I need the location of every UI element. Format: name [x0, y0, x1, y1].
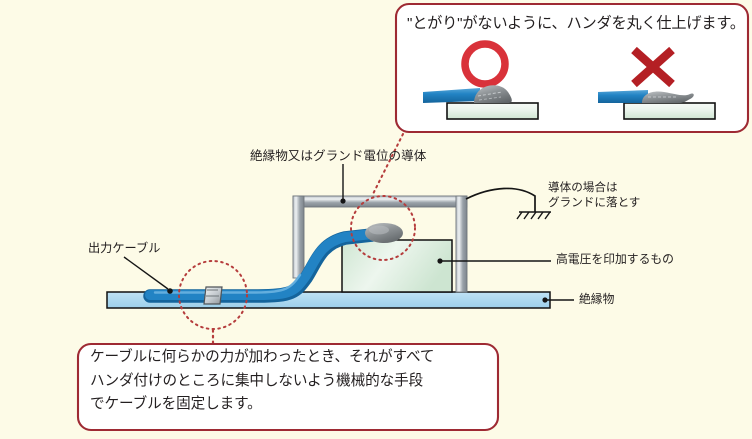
bad-cable	[598, 90, 648, 103]
label-shield-conductor: 絶縁物又はグランド電位の導体	[250, 148, 426, 165]
label-high-voltage: 高電圧を印加するもの	[556, 252, 674, 268]
bottom-callout-line-2: ハンダ付けのところに集中しないよう機械的な手段	[90, 370, 490, 394]
leader-shield-dot	[340, 198, 345, 203]
shield-right-post	[456, 196, 467, 292]
label-insulator: 絶縁物	[579, 292, 614, 308]
label-output-cable: 出力ケーブル	[88, 240, 160, 256]
good-substrate	[447, 103, 538, 119]
callout-connector-line	[372, 134, 403, 196]
ground-wire	[466, 188, 535, 212]
bottom-callout-text: ケーブルに何らかの力が加わったとき、それがすべて ハンダ付けのところに集中しない…	[90, 346, 490, 417]
cable-clamp	[204, 287, 222, 304]
leader-high-voltage-dot	[437, 258, 442, 263]
label-ground-note: 導体の場合はグランドに落とす	[548, 181, 640, 211]
ground-symbol	[517, 212, 551, 219]
top-callout-title: "とがり"がないように、ハンダを丸く仕上げます。	[407, 14, 745, 34]
diagram-canvas: "とがり"がないように、ハンダを丸く仕上げます。 絶縁物又はグランド電位の導体 …	[0, 0, 752, 439]
bad-substrate	[624, 103, 715, 119]
label-ground-line1: 導体の場合は	[548, 181, 618, 194]
shield-left-post	[293, 196, 304, 278]
bottom-callout-line-1: ケーブルに何らかの力が加わったとき、それがすべて	[90, 346, 490, 370]
bottom-callout-line-3: でケーブルを固定します。	[90, 393, 490, 417]
high-voltage-component	[342, 240, 452, 292]
leader-insulator-dot	[542, 297, 547, 302]
label-ground-line2: グランドに落とす	[548, 196, 640, 209]
solder-joint-sheen	[369, 226, 389, 235]
output-cable	[150, 234, 372, 295]
leader-output-cable	[124, 257, 168, 289]
shield-top-bar	[293, 196, 467, 207]
leader-output-cable-dot	[167, 288, 173, 294]
